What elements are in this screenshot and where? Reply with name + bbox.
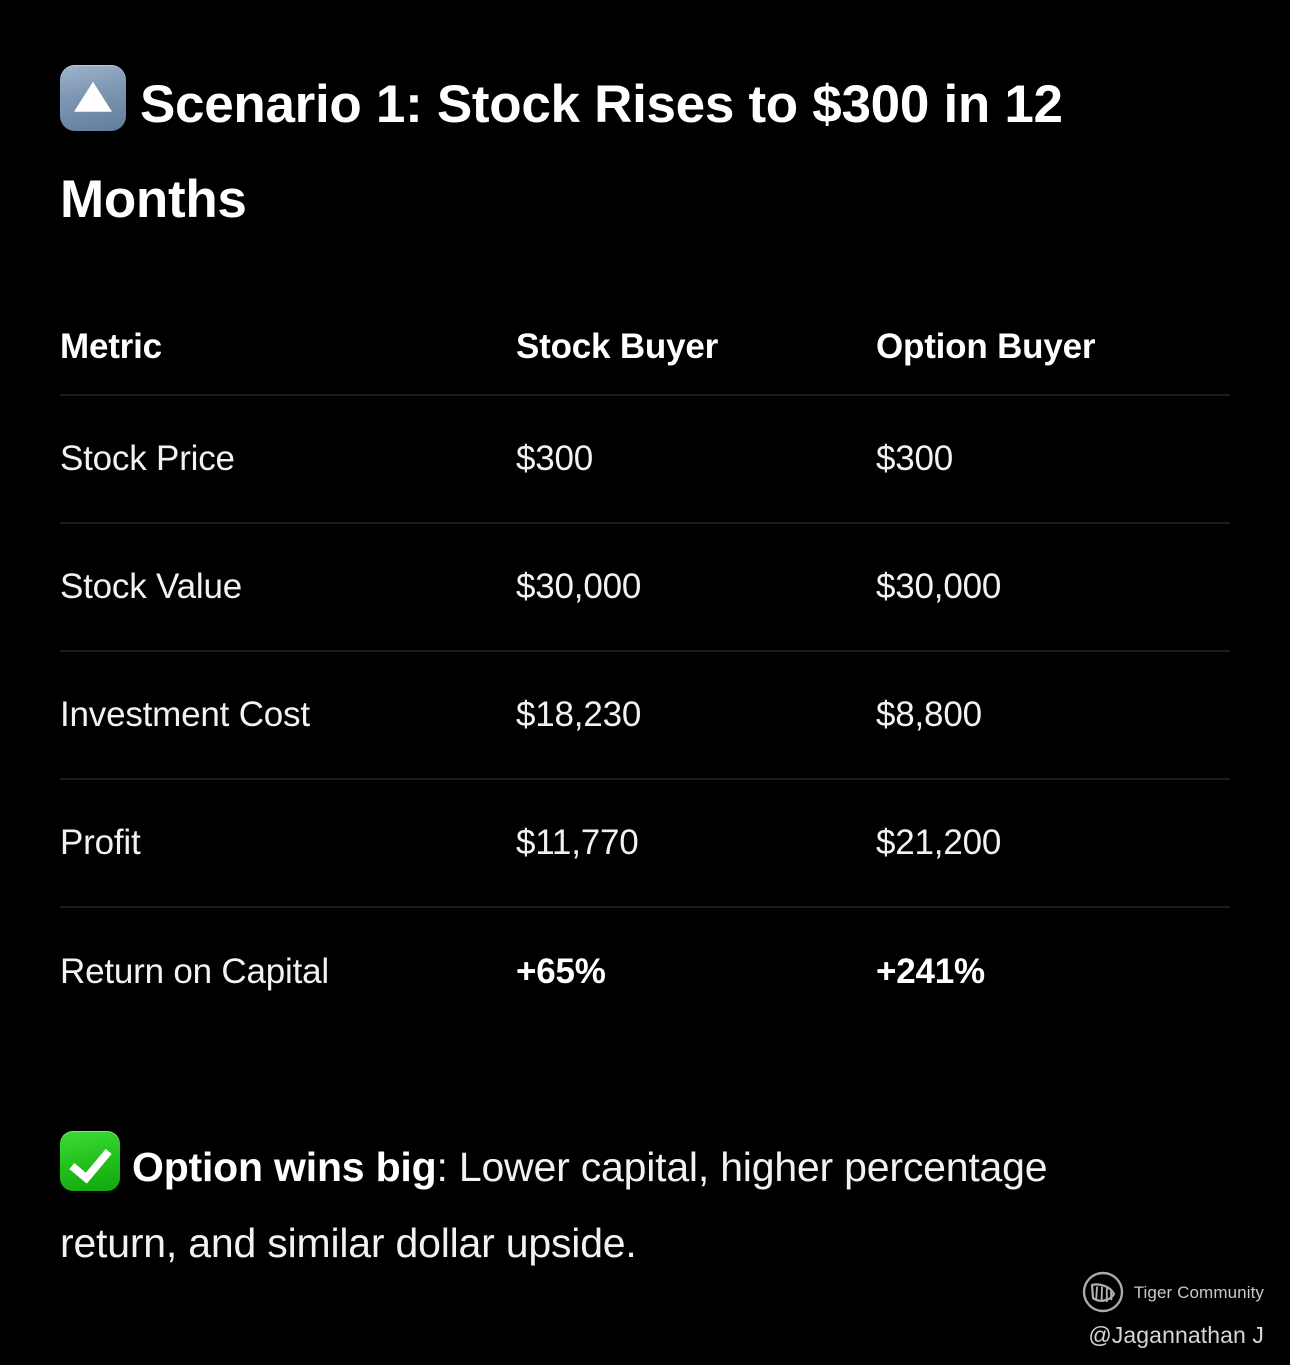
cell-metric: Profit	[60, 823, 516, 863]
page-title: Scenario 1: Stock Rises to $300 in 12 Mo…	[60, 62, 1210, 243]
table-row: Investment Cost $18,230 $8,800	[60, 652, 1230, 780]
cell-metric: Investment Cost	[60, 695, 516, 735]
table-header-row: Metric Stock Buyer Option Buyer	[60, 300, 1230, 396]
table-row: Return on Capital +65% +241%	[60, 908, 1230, 1036]
table-row: Stock Value $30,000 $30,000	[60, 524, 1230, 652]
title-block: Scenario 1: Stock Rises to $300 in 12 Mo…	[60, 62, 1210, 243]
cell-option-buyer: $300	[876, 439, 1230, 479]
cell-option-buyer: $8,800	[876, 695, 1230, 735]
tiger-claw-icon	[1081, 1270, 1125, 1314]
check-mark-button-icon	[60, 1131, 120, 1191]
page-title-text: Scenario 1: Stock Rises to $300 in 12 Mo…	[60, 75, 1063, 229]
cell-metric: Stock Value	[60, 567, 516, 607]
cell-option-buyer: $21,200	[876, 823, 1230, 863]
watermark: Tiger Community @Jagannathan J	[1081, 1270, 1264, 1347]
watermark-handle: @Jagannathan J	[1081, 1324, 1264, 1347]
comparison-table: Metric Stock Buyer Option Buyer Stock Pr…	[60, 300, 1230, 1036]
cell-stock-buyer: $11,770	[516, 823, 876, 863]
table-row: Stock Price $300 $300	[60, 396, 1230, 524]
column-header-stock-buyer: Stock Buyer	[516, 327, 876, 367]
upwards-button-icon	[60, 65, 126, 157]
cell-stock-buyer: $18,230	[516, 695, 876, 735]
table-row: Profit $11,770 $21,200	[60, 780, 1230, 908]
cell-stock-buyer: $300	[516, 439, 876, 479]
watermark-name: Tiger Community	[1134, 1284, 1264, 1301]
conclusion-lead: Option wins big	[132, 1144, 436, 1190]
cell-metric: Stock Price	[60, 439, 516, 479]
slide-canvas: Scenario 1: Stock Rises to $300 in 12 Mo…	[0, 0, 1290, 1365]
cell-option-buyer: +241%	[876, 952, 1230, 992]
conclusion-text: Option wins big: Lower capital, higher p…	[60, 1130, 1100, 1282]
cell-metric: Return on Capital	[60, 952, 516, 992]
column-header-metric: Metric	[60, 327, 516, 367]
column-header-option-buyer: Option Buyer	[876, 327, 1230, 367]
cell-stock-buyer: $30,000	[516, 567, 876, 607]
cell-option-buyer: $30,000	[876, 567, 1230, 607]
cell-stock-buyer: +65%	[516, 952, 876, 992]
watermark-brand: Tiger Community	[1081, 1270, 1264, 1314]
